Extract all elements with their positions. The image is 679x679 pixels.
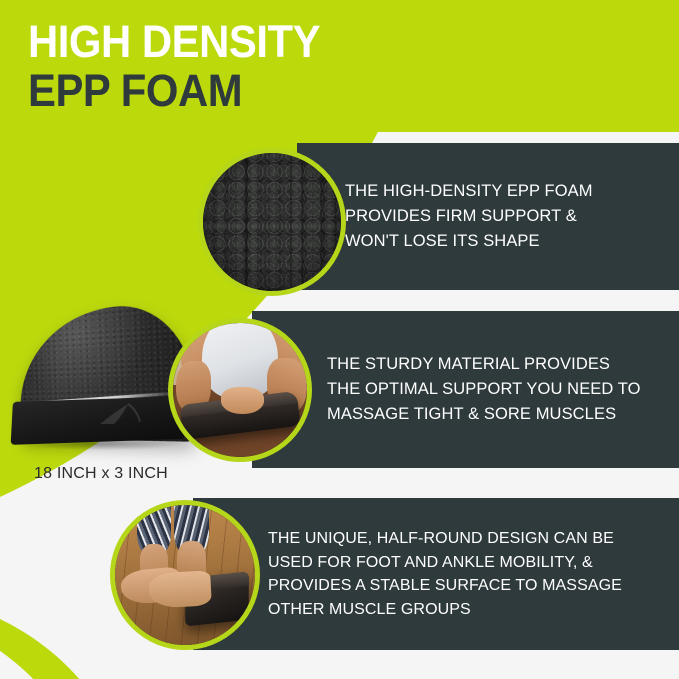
feet-on-roller-photo [110, 500, 260, 650]
scene2-hands [221, 387, 264, 414]
feature-3-line-4: OTHER MUSCLE GROUPS [268, 598, 622, 622]
feature-1-line-1: THE HIGH-DENSITY EPP FOAM [345, 179, 593, 204]
feature-panel-3: THE UNIQUE, HALF-ROUND DESIGN CAN BE USE… [193, 498, 679, 650]
bubble-1-inner [203, 153, 341, 291]
foam-texture-closeup-photo [198, 148, 346, 296]
page-title: HIGH DENSITY EPP FOAM [28, 18, 342, 116]
feature-1-line-3: WON'T LOSE ITS SHAPE [345, 229, 593, 254]
feature-3-text: THE UNIQUE, HALF-ROUND DESIGN CAN BE USE… [268, 527, 622, 621]
feature-panel-1: THE HIGH-DENSITY EPP FOAM PROVIDES FIRM … [297, 143, 679, 290]
feature-2-line-2: THE OPTIMAL SUPPORT YOU NEED TO [327, 377, 641, 402]
feature-3-line-3: PROVIDES A STABLE SURFACE TO MASSAGE [268, 574, 622, 598]
foam-vignette [203, 153, 341, 291]
title-line-two: EPP FOAM [28, 66, 320, 116]
feature-1-line-2: PROVIDES FIRM SUPPORT & [345, 204, 593, 229]
scene-hands-on-roller [173, 323, 307, 457]
product-size-caption: 18 INCH x 3 INCH [8, 465, 194, 483]
title-line-one: HIGH DENSITY [28, 18, 320, 66]
product-brand-logo-icon [94, 400, 152, 430]
hands-on-roller-photo [168, 318, 312, 462]
product-photo-half-round-roller [8, 300, 194, 452]
scene3-right-foot [148, 571, 211, 609]
feature-1-text: THE HIGH-DENSITY EPP FOAM PROVIDES FIRM … [345, 179, 593, 254]
feature-2-line-3: MASSAGE TIGHT & SORE MUSCLES [327, 402, 641, 427]
bubble-2-inner [173, 323, 307, 457]
feature-2-line-1: THE STURDY MATERIAL PROVIDES [327, 352, 641, 377]
product-infographic: HIGH DENSITY EPP FOAM THE HIGH-DENSITY E… [0, 0, 679, 679]
scene-feet-on-roller [115, 505, 255, 645]
bubble-3-inner [115, 505, 255, 645]
feature-3-line-2: USED FOR FOOT AND ANKLE MOBILITY, & [268, 551, 622, 575]
feature-3-line-1: THE UNIQUE, HALF-ROUND DESIGN CAN BE [268, 527, 622, 551]
feature-2-text: THE STURDY MATERIAL PROVIDES THE OPTIMAL… [327, 352, 641, 427]
feature-panel-2: THE STURDY MATERIAL PROVIDES THE OPTIMAL… [252, 311, 679, 468]
